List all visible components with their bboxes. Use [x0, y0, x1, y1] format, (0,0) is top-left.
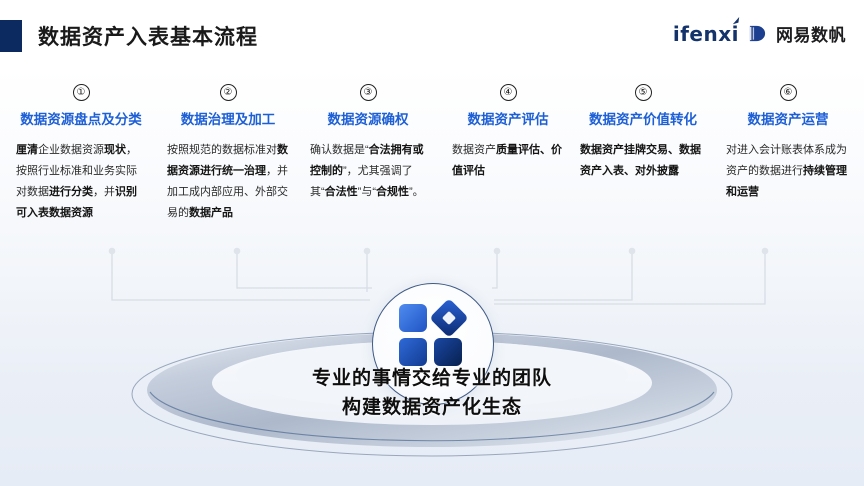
step-body: 对进入会计账表体系成为资产的数据进行持续管理和运营: [726, 140, 850, 203]
step-body: 数据资产挂牌交易、数据资产入表、对外披露: [580, 140, 706, 182]
center-tagline: 专业的事情交给专业的团队 构建数据资产化生态: [0, 364, 864, 423]
step-column-5: ⑤ 数据资产价值转化 数据资产挂牌交易、数据资产入表、对外披露: [580, 84, 706, 182]
step-column-3: ③ 数据资源确权 确认数据是“合法拥有或控制的”，尤其强调了其“合法性”与“合规…: [310, 84, 426, 203]
tagline-line-1: 专业的事情交给专业的团队: [0, 364, 864, 393]
step-title: 数据资产运营: [726, 108, 850, 128]
step-title: 数据资产价值转化: [580, 108, 706, 128]
step-body: 厘清企业数据资源现状，按照行业标准和业务实际对数据进行分类，并识别可入表数据资源: [16, 140, 146, 224]
step-number-badge: ④: [500, 84, 517, 101]
step-column-6: ⑥ 数据资产运营 对进入会计账表体系成为资产的数据进行持续管理和运营: [726, 84, 850, 203]
step-number-badge: ②: [220, 84, 237, 101]
four-tile-diamond-logo-icon: [396, 300, 468, 372]
step-number-badge: ⑤: [635, 84, 652, 101]
step-column-1: ① 数据资源盘点及分类 厘清企业数据资源现状，按照行业标准和业务实际对数据进行分…: [16, 84, 146, 224]
step-title: 数据资源确权: [310, 108, 426, 128]
step-title: 数据资产评估: [452, 108, 564, 128]
step-title: 数据治理及加工: [167, 108, 289, 128]
step-number-badge: ①: [73, 84, 90, 101]
step-body: 按照规范的数据标准对数据资源进行统一治理，并加工成内部应用、外部交易的数据产品: [167, 140, 289, 224]
step-number-badge: ⑥: [780, 84, 797, 101]
step-column-4: ④ 数据资产评估 数据资产质量评估、价值评估: [452, 84, 564, 182]
slide-root: 数据资产入表基本流程 ifenxi 网易数帆: [0, 0, 864, 486]
step-number-badge: ③: [360, 84, 377, 101]
step-body: 确认数据是“合法拥有或控制的”，尤其强调了其“合法性”与“合规性”。: [310, 140, 426, 203]
step-body: 数据资产质量评估、价值评估: [452, 140, 564, 182]
step-column-2: ② 数据治理及加工 按照规范的数据标准对数据资源进行统一治理，并加工成内部应用、…: [167, 84, 289, 224]
step-title: 数据资源盘点及分类: [16, 108, 146, 128]
tagline-line-2: 构建数据资产化生态: [0, 393, 864, 422]
